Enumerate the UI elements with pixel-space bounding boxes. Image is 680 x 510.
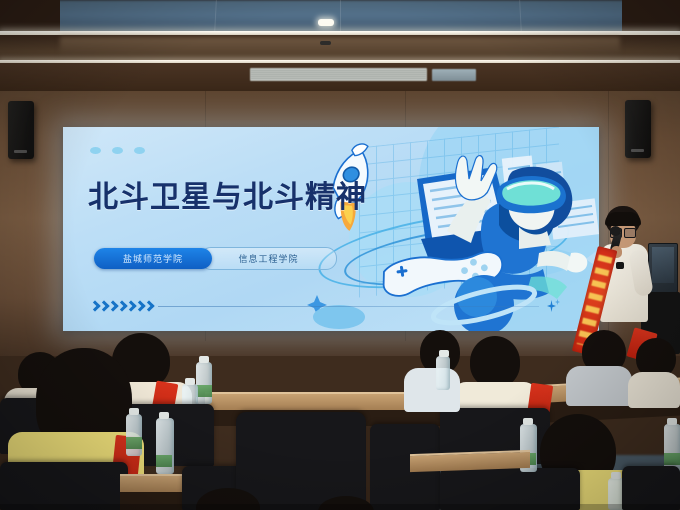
sparkle-icon: [545, 299, 561, 313]
water-bottle: [196, 362, 212, 404]
water-bottle: [664, 424, 680, 472]
slide-footer-rule: [91, 299, 561, 313]
ceiling-band-upper: [0, 35, 680, 62]
screenshot-root: 北斗卫星与北斗精神 盐城师范学院 信息工程学院: [0, 0, 680, 510]
air-vent-grille: [250, 68, 427, 81]
audience-head: [470, 336, 520, 388]
slide-dot: [134, 147, 145, 154]
slide-dot: [90, 147, 101, 154]
ceiling-downlight: [318, 19, 334, 26]
wall-speaker-left: [8, 101, 34, 159]
footer-line: [158, 306, 539, 307]
pill-primary-university: 盐城师范学院: [94, 248, 212, 269]
audience-shirt: [628, 372, 680, 408]
water-bottle: [156, 418, 174, 474]
projection-screen: 北斗卫星与北斗精神 盐城师范学院 信息工程学院: [63, 127, 599, 331]
water-bottle: [436, 356, 450, 390]
seat-back: [0, 462, 128, 510]
clerestory-window: [55, 0, 630, 33]
presentation-slide: 北斗卫星与北斗精神 盐城师范学院 信息工程学院: [63, 127, 599, 331]
water-bottle: [126, 414, 142, 456]
air-vent-small: [432, 69, 476, 81]
slide-dot: [112, 147, 123, 154]
audience-shirt: [404, 368, 460, 412]
audience-shirt: [566, 366, 632, 406]
ceiling-left-panel: [0, 0, 60, 33]
wall-speaker-right: [625, 100, 651, 158]
slide-title: 北斗卫星与北斗精神: [88, 172, 398, 216]
wristwatch: [616, 262, 624, 269]
ceiling-sensor: [320, 41, 331, 45]
pill-secondary-college: 信息工程学院: [200, 247, 337, 270]
slide-dots: [90, 147, 145, 154]
microphone-head: [610, 226, 621, 236]
slide-affiliation-pills: 盐城师范学院 信息工程学院: [94, 247, 337, 270]
ceiling-right-panel: [622, 0, 680, 33]
chevron-arrows: [91, 301, 154, 312]
presenter-fringe: [605, 212, 641, 226]
ceiling-seam: [340, 0, 341, 33]
bottom-edge: [0, 504, 680, 510]
